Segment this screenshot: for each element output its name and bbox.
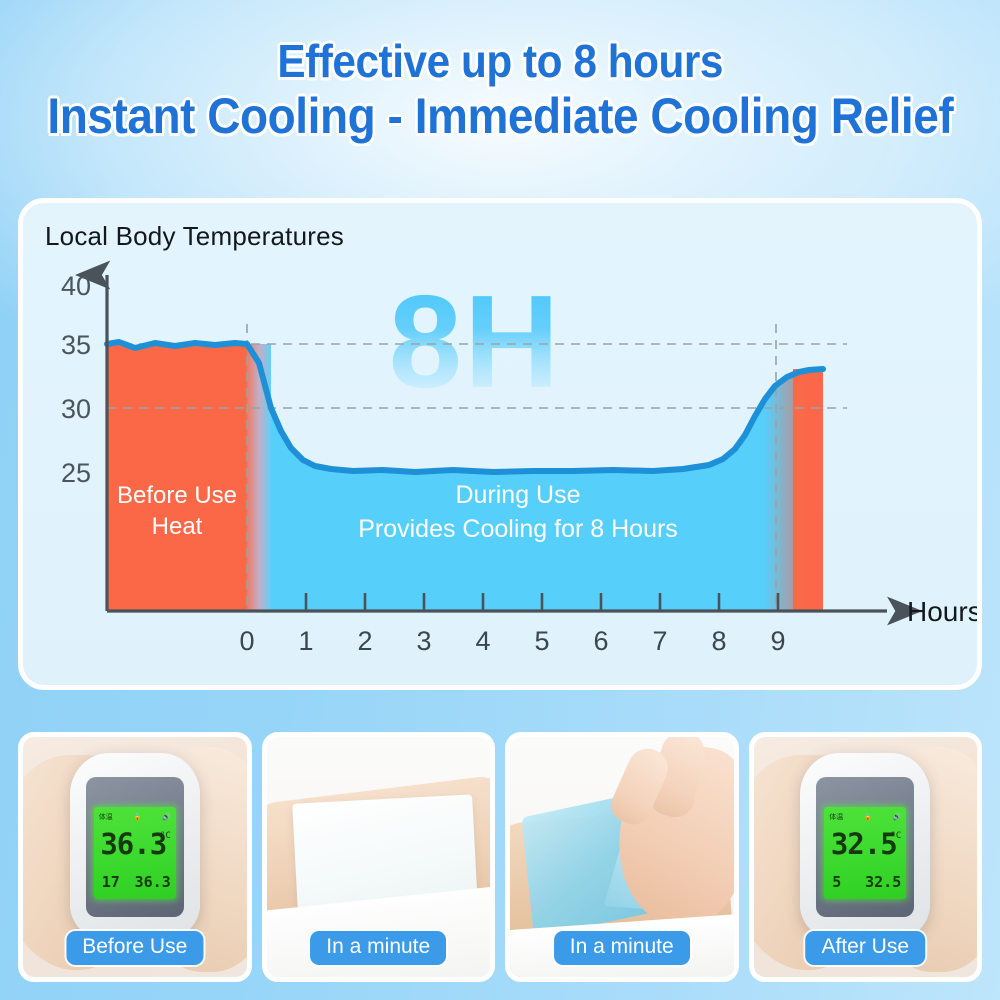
thermometer-bezel: 体温 🔒 🔊 36.3 °C 17 36.3 bbox=[86, 777, 184, 917]
watermark-8h: 8H bbox=[389, 268, 562, 415]
zone-label-during-use-line2: Provides Cooling for 8 Hours bbox=[358, 515, 678, 543]
lcd-memory-row: 5 32.5 bbox=[832, 873, 901, 891]
x-tick-label-0: 0 bbox=[239, 626, 254, 656]
y-tick-label-40: 40 bbox=[61, 271, 91, 301]
lcd-memory-index: 5 bbox=[832, 873, 841, 891]
photo-badge-before-use: Before Use bbox=[66, 931, 203, 965]
lcd-memory-row: 17 36.3 bbox=[102, 873, 171, 891]
photo-strip: 体温 🔒 🔊 36.3 °C 17 36.3 bbox=[18, 732, 982, 982]
y-tick-label-25: 25 bbox=[61, 458, 91, 488]
lcd-memory-value: 36.3 bbox=[135, 873, 171, 891]
zone-label-before-use-line2: Heat bbox=[152, 513, 203, 540]
lcd-status-icons: 体温 🔒 🔊 bbox=[829, 812, 901, 822]
speaker-icon: 🔊 bbox=[893, 813, 902, 821]
headline-primary: Effective up to 8 hours bbox=[277, 38, 723, 85]
photo-badge-patch-applied: In a minute bbox=[310, 931, 446, 965]
lcd-memory-value: 32.5 bbox=[865, 873, 901, 891]
photo-card-after-use[interactable]: 体温 🔒 🔊 32.5 °C 5 32.5 bbox=[749, 732, 983, 982]
lcd-display: 体温 🔒 🔊 36.3 °C 17 36.3 bbox=[94, 807, 176, 899]
x-tick-label-1: 1 bbox=[298, 626, 313, 656]
lcd-temperature-unit: °C bbox=[160, 831, 171, 841]
x-tick-label-2: 2 bbox=[357, 626, 372, 656]
temperature-area-chart: 8H Before Use Heat During Use Provides C… bbox=[23, 203, 977, 685]
page-header: Effective up to 8 hours Instant Cooling … bbox=[0, 0, 1000, 196]
speaker-icon: 🔊 bbox=[162, 813, 171, 821]
lcd-mode-label: 体温 bbox=[829, 812, 843, 822]
x-axis-name: Hours bbox=[907, 596, 977, 627]
photo-badge-patch-peeling: In a minute bbox=[554, 931, 690, 965]
x-tick-label-4: 4 bbox=[475, 626, 490, 656]
photo-card-before-use[interactable]: 体温 🔒 🔊 36.3 °C 17 36.3 bbox=[18, 732, 252, 982]
photo-card-patch-peeling[interactable]: In a minute bbox=[505, 732, 739, 982]
y-tick-label-30: 30 bbox=[61, 394, 91, 424]
lock-icon: 🔒 bbox=[133, 813, 142, 821]
lcd-status-icons: 体温 🔒 🔊 bbox=[99, 812, 171, 822]
temperature-chart-card: Local Body Temperatures bbox=[18, 198, 982, 690]
x-tick-label-5: 5 bbox=[534, 626, 549, 656]
lcd-memory-index: 17 bbox=[102, 873, 120, 891]
y-tick-label-35: 35 bbox=[61, 330, 91, 360]
zone-label-before-use-line1: Before Use bbox=[117, 482, 237, 509]
lock-icon: 🔒 bbox=[864, 813, 873, 821]
area-after-use-heat-solid bbox=[793, 369, 823, 611]
photo-badge-after-use: After Use bbox=[805, 931, 925, 965]
x-tick-label-3: 3 bbox=[416, 626, 431, 656]
thermometer-bezel: 体温 🔒 🔊 32.5 °C 5 32.5 bbox=[816, 777, 914, 917]
photo-card-patch-applied[interactable]: In a minute bbox=[262, 732, 496, 982]
infrared-thermometer: 体温 🔒 🔊 36.3 °C 17 36.3 bbox=[70, 753, 200, 943]
lcd-display: 体温 🔒 🔊 32.5 °C 5 32.5 bbox=[824, 807, 906, 899]
headline-secondary: Instant Cooling - Immediate Cooling Reli… bbox=[47, 91, 953, 142]
infrared-thermometer: 体温 🔒 🔊 32.5 °C 5 32.5 bbox=[800, 753, 930, 943]
x-tick-label-6: 6 bbox=[593, 626, 608, 656]
lcd-mode-label: 体温 bbox=[99, 812, 113, 822]
x-tick-label-8: 8 bbox=[711, 626, 726, 656]
x-tick-label-9: 9 bbox=[770, 626, 785, 656]
lcd-temperature-unit: °C bbox=[890, 831, 901, 841]
zone-label-during-use-line1: During Use bbox=[455, 481, 580, 509]
area-before-use-heat bbox=[107, 342, 247, 611]
x-tick-label-7: 7 bbox=[652, 626, 667, 656]
